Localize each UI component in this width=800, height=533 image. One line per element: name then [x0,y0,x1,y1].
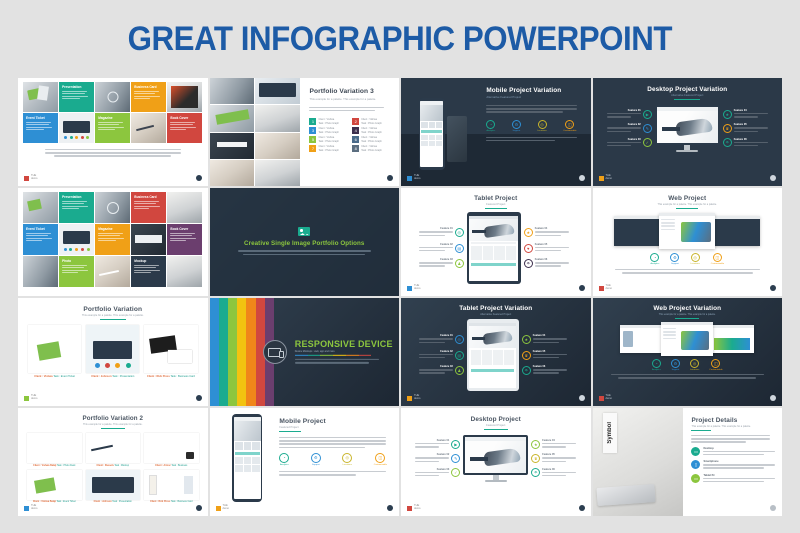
thumb-photo [210,105,255,131]
icon-label: Locations [343,464,352,466]
phone-mockup [232,414,262,502]
chip-item[interactable]: 5 Client : VishwaTask : Photo Graph [309,136,348,143]
portfolio-card[interactable]: Client : Johnson Task : Presentation [86,470,141,504]
card-task: Task : Presentation [112,501,132,503]
phone-mockup [419,98,445,170]
mosaic-tile-book-cover: Book Cover [167,113,202,143]
page-indicator[interactable] [579,175,585,181]
page-indicator[interactable] [770,175,776,181]
feature-item[interactable]: ♛ Feature 05 [531,453,584,463]
icon-locations[interactable]: ◎ Locations [342,453,352,466]
imac-mockup [463,435,528,482]
browser-window-left [614,216,662,246]
slide-portfolio-variation-3[interactable]: Portfolio Variation 3 This example for a… [210,78,400,186]
feature-column-left: Feature 01 ◎ Feature 02 ▤ [407,334,464,375]
mosaic-photo [167,192,202,223]
feature-item[interactable]: ☂ Feature 06 [522,365,579,375]
card-client: Client : Johnson [94,501,112,503]
detail-item[interactable]: ▭ Desktop [691,447,775,457]
slide-title: RESPONSIVE DEVICE [295,339,393,349]
logo-line-2: demo [31,507,38,510]
analytics-icon: ◔ [652,359,661,368]
feature-icon: ☂ [723,138,732,147]
mosaic-photo [167,256,202,287]
feature-title: Feature 02 [415,453,449,456]
tile-title: Presentation [62,195,94,199]
icon-analytics[interactable]: ◔ Analytics [650,253,659,265]
mosaic-photo [23,192,58,223]
feature-icon: ▤ [455,351,464,360]
tablet-mockup [467,319,519,391]
feature-icon: ♟ [455,259,464,268]
card-task: Task : Presentation [112,375,134,378]
icon-customizable[interactable]: ◫ Customizable [563,120,576,132]
chip-number: 2 [352,118,359,125]
mosaic-photo [23,256,58,287]
chip-number: 6 [352,136,359,143]
feature-icon: ✎ [643,124,652,133]
card-client: Client : Vishwa Balaji [33,465,56,467]
slide-title: Portfolio Variation 3 [309,88,391,95]
chip-task: Task : Photo Graph [361,140,381,143]
mosaic-tile-business-card: Business Card [131,82,166,112]
slide-title: Project Details [691,417,775,424]
page-indicator[interactable] [770,395,776,401]
portfolio-card[interactable]: Client : Vishwa Balaji Task : Event Tick… [27,470,82,504]
icon-label: Customizable [711,263,724,265]
card-client: Client : Vishwa [34,375,52,378]
logo-line-2: demo [31,177,38,180]
icon-locations[interactable]: ◎ Locations [690,359,699,371]
logo-line-2: demo [606,287,613,290]
tile-title: Book Cover [170,227,202,231]
detail-item[interactable]: ▯ Smartphone [691,460,775,470]
page-indicator[interactable] [387,505,393,511]
slide-portfolio-variation[interactable]: Portfolio Variation This example for a p… [18,298,208,406]
chip-item[interactable]: 7 Client : VishwaTask : Photo Graph [309,145,348,152]
feature-column-right: ★ Feature 04 ♛ Feature 05 [723,109,776,148]
feature-icon: ◎ [455,228,464,237]
support-icon: ⚙ [670,253,679,262]
brand-logo: THEdemo [24,505,38,511]
feature-item[interactable]: Feature 02 ▤ [407,243,464,253]
chip-number: 7 [309,145,316,152]
chip-task: Task : Photo Graph [361,149,381,152]
icon-label: Customizable [563,130,576,132]
feature-title: Feature 06 [535,258,569,261]
icon-label: Support [671,263,679,265]
feature-item[interactable]: ☂ Feature 06 [524,258,581,268]
icon-label: Locations [690,369,699,371]
slide-tablet-project-variation[interactable]: Tablet Project Variation Alternative Fea… [401,298,591,406]
feature-title: Feature 04 [533,334,567,337]
feature-item[interactable]: Feature 03 ♟ [407,365,464,375]
card-client: Client : Armoc [155,465,171,467]
feature-icon: ✓ [643,138,652,147]
feature-title: Feature 05 [542,453,576,456]
feature-item[interactable]: Feature 03 ✓ [407,468,460,478]
feature-icon: ▤ [455,244,464,253]
customizable-icon: ◫ [713,253,722,262]
feature-icon: ✎ [451,454,460,463]
tablet-mockup [467,212,521,284]
slide-subtitle: Alternative Featured Project [480,313,511,316]
chip-task: Task : Photo Graph [361,131,381,134]
slide-grid: Presentation Business Card Event Ti [0,78,800,516]
feature-item[interactable]: ♥ Feature 05 [524,243,581,253]
chip-task: Task : Photo Graph [318,149,338,152]
tablet-icon: ▭ [691,474,700,483]
card-client: Client : Rick Press [150,501,170,503]
mosaic-tile-book-cover: Book Cover [167,224,202,255]
feature-item[interactable]: Feature 01 ◎ [407,334,464,344]
icon-row: ◔ Analytics ⚙ Support ◎ Locations ◫ Cust… [599,253,777,265]
chip-number: 1 [309,118,316,125]
logo-line-2: demo [414,397,421,400]
secondary-photo [447,116,467,162]
feature-item[interactable]: Feature 02 ▤ [407,350,464,360]
feature-item[interactable]: ★ Feature 04 [531,439,584,449]
mosaic-device-preview [59,113,94,143]
mosaic-tile-presentation: Presentation [59,82,94,112]
feature-column-right: ★ Feature 04 ♛ Feature 05 [531,439,584,478]
portfolio-card[interactable]: Client : Armoc Task : Business [144,433,199,467]
brand-logo: THEdemo [24,175,38,181]
slide-subtitle: This example for a palette. This example… [659,313,716,316]
locations-icon: ◎ [538,120,547,129]
icon-label: Support [513,130,521,132]
mosaic-photo [23,82,58,112]
feature-item[interactable]: ★ Feature 04 [723,109,776,119]
portfolio-card[interactable]: Client : Rick Press Task : Business Card [144,325,197,378]
feature-title: Feature 03 [419,365,453,368]
feature-icon: ♛ [531,454,540,463]
feature-item[interactable]: ♛ Feature 05 [522,350,579,360]
card-client: Client : Vishwa Balaji [33,501,56,503]
brand-logo: THEdemo [407,505,421,511]
feature-title: Feature 04 [734,109,768,112]
icon-locations[interactable]: ◎ Locations [537,120,546,132]
tile-title: Event Ticket [26,116,58,120]
browser-window-center [659,213,715,249]
slide-title: Creative Single Image Portfolio Options [244,240,364,247]
feature-icon: ★ [531,440,540,449]
analytics-icon: ◔ [650,253,659,262]
card-client: Client : Johnson [91,375,111,378]
slide-project-details[interactable]: Symbol Project Details This example for … [593,408,783,516]
icon-customizable[interactable]: ◫ Customizable [711,253,724,265]
page-indicator[interactable] [196,395,202,401]
feature-item[interactable]: ★ Feature 04 [522,334,579,344]
logo-line-2: demo [414,287,421,290]
icon-locations[interactable]: ◎ Locations [690,253,699,265]
browser-window-right [712,216,760,246]
icon-row: ◔ Analytics ⚙ Support ◎ Locations ◫ [486,120,582,132]
icon-customizable[interactable]: ◫ Customizable [709,359,722,371]
browser-window-right [710,325,754,353]
feature-item[interactable]: Feature 02 ✎ [599,123,652,133]
slide-subtitle: Featured Project [279,426,393,429]
slide-title: Web Project [668,195,706,202]
browser-window-center [661,322,713,356]
feature-title: Feature 06 [533,365,567,368]
page-indicator[interactable] [579,395,585,401]
feature-column-left: Feature 01 ◎ Feature 02 ▤ [407,227,464,268]
tile-title: Magazine [98,227,130,231]
feature-item[interactable]: Feature 01 ▶ [599,109,652,119]
feature-item[interactable]: Feature 03 ✓ [599,138,652,148]
slide-portfolio-mosaic-large[interactable]: Presentation Business Card Event Ticket [18,188,208,296]
feature-icon: ◎ [455,335,464,344]
slide-subtitle: This example for a palette. This example… [82,314,144,317]
slide-subtitle: Alternative Featured Project [671,94,703,97]
portfolio-card[interactable]: Client : Russels Task : Mockup [86,433,141,467]
mosaic-device-preview [59,224,94,255]
tile-title: Photo [62,259,94,263]
slide-title: Mobile Project [279,418,393,425]
slide-responsive-device[interactable]: RESPONSIVE DEVICE Device Mockups : web, … [210,298,400,406]
slide-title: Tablet Project [474,195,517,202]
brand-logo: THEdemo [407,175,421,181]
icon-support[interactable]: ⚙ Support [311,453,321,466]
feature-title: Feature 03 [419,258,453,261]
analytics-icon: ◔ [486,120,495,129]
feature-column-left: Feature 01 ▶ Feature 02 ✎ [599,109,652,148]
feature-item[interactable]: ★ Feature 04 [524,227,581,237]
page-indicator[interactable] [770,285,776,291]
detail-title: Tablet Pc [703,474,775,477]
brand-logo: THEdemo [24,395,38,401]
slide-subtitle: This example for a palette. This example… [83,423,143,426]
feature-item[interactable]: Feature 01 ▶ [407,439,460,449]
icon-label: Customizable [374,464,387,466]
chip-item[interactable]: 6 Client : VishwaTask : Photo Graph [352,136,391,143]
chip-item[interactable]: 3 Client : VishwaTask : Photo Graph [309,127,348,134]
icon-analytics[interactable]: ◔ Analytics [486,120,495,132]
slide-subtitle: This example for a palette. This example… [309,97,391,101]
thumb-photo [210,78,255,104]
slide-mobile-project-variation[interactable]: Mobile Project Variation Alternative Fea… [401,78,591,186]
customizable-icon: ◫ [711,359,720,368]
portfolio-card[interactable]: Client : Rick Press Task : Business Card [144,470,199,504]
icon-label: Locations [690,263,699,265]
page-indicator[interactable] [770,505,776,511]
feature-item[interactable]: ♛ Feature 05 [723,123,776,133]
logo-line-2: demo [414,507,421,510]
page-title: GREAT INFOGRAPHIC POWERPOINT [128,20,672,59]
detail-title: Smartphone [703,460,775,463]
icon-analytics[interactable]: ◔ Analytics [652,359,661,371]
support-icon: ⚙ [512,120,521,129]
tile-title: Book Cover [170,116,202,120]
feature-icon: ♛ [522,351,531,360]
mosaic-photo [131,113,166,143]
feature-item[interactable]: Feature 01 ◎ [407,227,464,237]
brand-logo: THEdemo [599,175,613,181]
slide-mobile-project[interactable]: Mobile Project Featured Project ◔ Analyt… [210,408,400,516]
icon-support[interactable]: ⚙ Support [670,253,679,265]
feature-item[interactable]: Feature 03 ♟ [407,258,464,268]
feature-item[interactable]: ☂ Feature 06 [723,138,776,148]
mosaic-tile-event-ticket: Event Ticket [23,113,58,143]
product-photo: Symbol [593,408,684,516]
card-task: Task : Business Card [170,375,194,378]
slide-subtitle: This example for a palette. This example… [691,425,775,428]
icon-label: Support [312,464,320,466]
card-task: Task : Event Ticket [53,375,75,378]
feature-icon: ♛ [723,124,732,133]
icon-label: Analytics [486,130,495,132]
page-indicator[interactable] [579,285,585,291]
feature-icon: ✓ [451,468,460,477]
slide-subtitle: Alternative Featured Project [486,95,582,99]
chip-number: 3 [309,127,316,134]
feature-column-right: ★ Feature 04 ♛ Feature 05 [522,334,579,375]
chip-task: Task : Photo Graph [318,122,338,125]
slide-portfolio-variation-2[interactable]: Portfolio Variation 2 This example for a… [18,408,208,516]
device-icon [263,340,287,364]
card-task: Task : Photo Desk [57,465,76,467]
page-header: GREAT INFOGRAPHIC POWERPOINT [0,0,800,78]
mosaic-tile-magazine: Magazine [95,224,130,255]
chip-item[interactable]: 2 Client : VishwaTask : Photo Graph [352,118,391,125]
feature-title: Feature 06 [734,138,768,141]
browser-window-left [620,325,664,353]
locations-icon: ◎ [691,253,700,262]
thumb-photo [210,160,255,186]
feature-column-right: ★ Feature 04 ♥ Feature 05 [524,227,581,268]
feature-title: Feature 04 [535,227,569,230]
slide-subtitle: Device Mockups : web, app and more [295,350,393,353]
tile-title: Mockup [134,259,166,263]
icon-analytics[interactable]: ◔ Analytics [279,453,289,466]
slide-portfolio-mosaic[interactable]: Presentation Business Card Event Ti [18,78,208,186]
detail-list: ▭ Desktop ▯ Smartphone [691,447,775,484]
brand-logo: THEdemo [407,285,421,291]
card-task: Task : Event Ticket [57,501,76,503]
icon-row: ◔ Analytics ⚙ Support ◎ Locations ◫ Cust… [599,359,777,371]
slide-title: Desktop Project [471,416,521,423]
mosaic-photo [95,256,130,287]
icon-support[interactable]: ⚙ Support [512,120,521,132]
chip-number: 8 [352,145,359,152]
feature-item[interactable]: Feature 02 ✎ [407,453,460,463]
mosaic-tile-magazine: Magazine [95,113,130,143]
card-task: Task : Business Card [171,501,193,503]
logo-line-2: demo [31,397,38,400]
thumb-photo [255,78,300,104]
icon-label: Locations [537,130,546,132]
feature-icon: ☂ [524,259,533,268]
thumb-photo [255,160,300,186]
page-indicator[interactable] [387,175,393,181]
brand-logo: THEdemo [407,395,421,401]
feature-icon: ★ [723,110,732,119]
feature-item[interactable]: ☂ Feature 06 [531,468,584,478]
feature-icon: ▶ [451,440,460,449]
icon-support[interactable]: ⚙ Support [671,359,680,371]
support-icon: ⚙ [311,453,321,463]
slide-title: Portfolio Variation 2 [82,415,143,422]
chip-item[interactable]: 1 Client : VishwaTask : Photo Graph [309,118,348,125]
page-indicator[interactable] [579,505,585,511]
slide-web-project-variation[interactable]: Web Project Variation This example for a… [593,298,783,406]
feature-title: Feature 01 [415,439,449,442]
feature-icon: ♟ [455,366,464,375]
slide-tablet-project[interactable]: Tablet Project Featured Project Feature … [401,188,591,296]
logo-line-2: demo [606,177,613,180]
portfolio-card[interactable]: Client : Vishwa Balaji Task : Photo Desk [27,433,82,467]
feature-title: Feature 04 [542,439,576,442]
feature-title: Feature 05 [533,350,567,353]
page-indicator[interactable] [196,175,202,181]
book-title: Symbol [607,422,613,444]
detail-title: Desktop [703,447,775,450]
brand-logo: THEdemo [599,395,613,401]
portfolio-card[interactable]: Client : Vishwa Task : Event Ticket [28,325,81,378]
brand-logo: THEdemo [599,285,613,291]
card-client: Client : Rick Press [147,375,170,378]
desktop-icon: ▭ [691,447,700,456]
support-icon: ⚙ [671,359,680,368]
logo-line-2: demo [606,397,613,400]
chip-list: 1 Client : VishwaTask : Photo Graph 2 Cl… [309,118,391,152]
image-icon [298,227,310,236]
feature-title: Feature 01 [419,334,453,337]
chip-number: 4 [352,127,359,134]
portfolio-card[interactable]: Client : Johnson Task : Presentation [86,325,139,378]
feature-title: Feature 02 [607,123,641,126]
mosaic-tile-mockup: Mockup [131,256,166,287]
feature-title: Feature 03 [607,138,641,141]
feature-title: Feature 01 [607,109,641,112]
page-indicator[interactable] [196,505,202,511]
tile-title: Magazine [98,116,130,120]
feature-icon: ☂ [531,468,540,477]
feature-icon: ♥ [524,244,533,253]
icon-label: Analytics [652,369,661,371]
detail-item[interactable]: ▭ Tablet Pc [691,474,775,484]
logo-line-2: demo [414,177,421,180]
feature-title: Feature 02 [419,243,453,246]
feature-column-left: Feature 01 ▶ Feature 02 ✎ [407,439,460,478]
mosaic-tile-photo: Photo [59,256,94,287]
slide-desktop-project-variation[interactable]: Desktop Project Variation Alternative Fe… [593,78,783,186]
locations-icon: ◎ [690,359,699,368]
mosaic-tile-presentation: Presentation [59,192,94,223]
slide-desktop-project[interactable]: Desktop Project Featured Project Feature… [401,408,591,516]
slide-web-project[interactable]: Web Project This example for a palette. … [593,188,783,296]
slide-title: Desktop Project Variation [647,86,727,93]
icon-customizable[interactable]: ◫ Customizable [374,453,387,466]
icon-label: Analytics [651,263,660,265]
feature-title: Feature 05 [535,243,569,246]
chip-item[interactable]: 4 Client : VishwaTask : Photo Graph [352,127,391,134]
tile-title: Event Ticket [26,227,58,231]
tile-title: Business Card [134,85,166,89]
analytics-icon: ◔ [279,453,289,463]
poster-page: GREAT INFOGRAPHIC POWERPOINT Presentatio… [0,0,800,533]
chip-number: 5 [309,136,316,143]
slide-creative-single-image[interactable]: Creative Single Image Portfolio Options [210,188,400,296]
card-client: Client : Russels [96,465,113,467]
feature-title: Feature 03 [415,468,449,471]
customizable-icon: ◫ [565,120,574,129]
chip-item[interactable]: 8 Client : VishwaTask : Photo Graph [352,145,391,152]
card-task: Task : Business [171,465,187,467]
logo-line-2: demo [223,507,230,510]
slide-title: Web Project Variation [653,305,721,312]
